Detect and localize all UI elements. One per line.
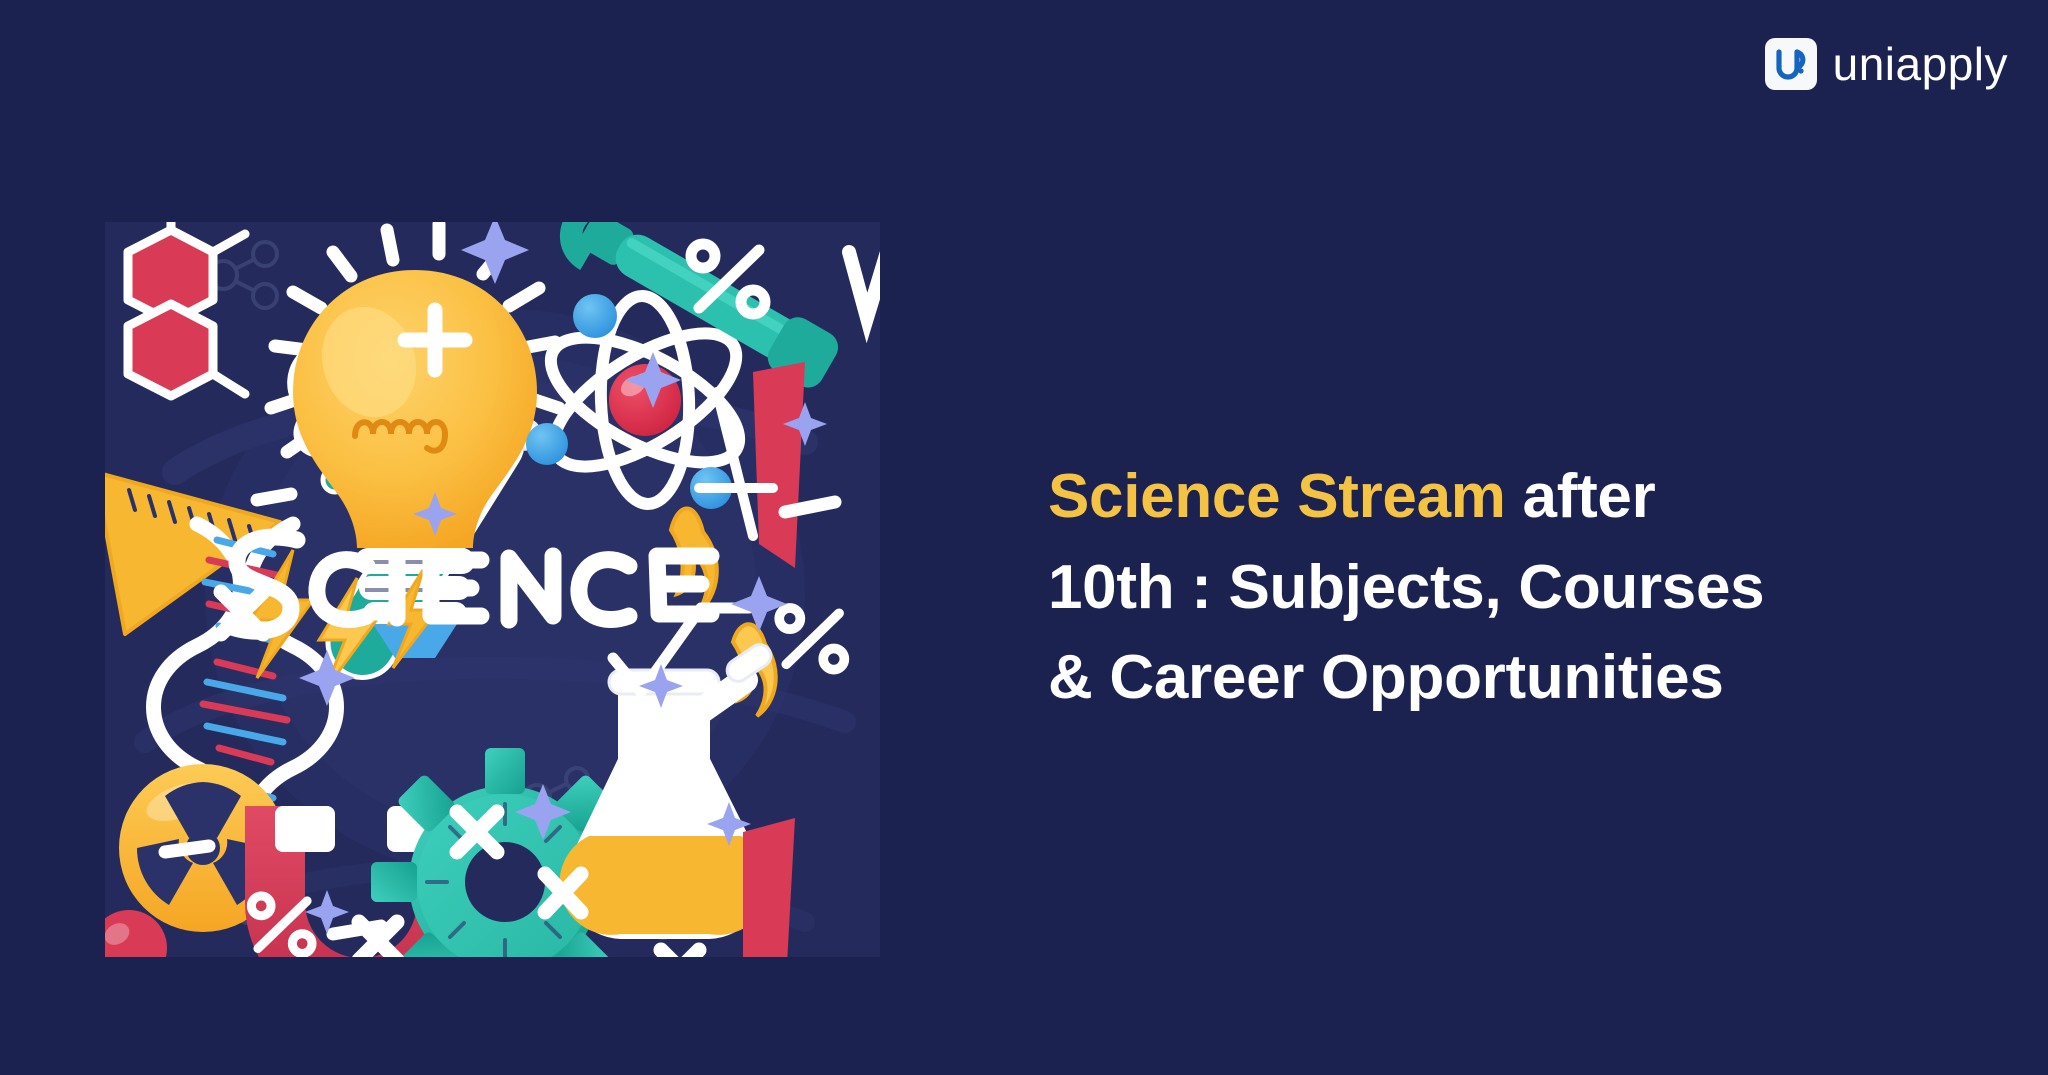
headline-line-2: 10th : Subjects, Courses <box>1048 543 1948 634</box>
headline-line-1-rest: after <box>1506 462 1656 531</box>
brand-logo[interactable]: uniapply <box>1765 38 2008 90</box>
headline-accent: Science Stream <box>1048 462 1506 531</box>
headline-line-3: & Career Opportunities <box>1048 633 1948 724</box>
brand-name: uniapply <box>1833 41 2008 87</box>
uniapply-logo-mark <box>1765 38 1817 90</box>
headline-line-1: Science Stream after <box>1048 452 1948 543</box>
banner-root: uniapply <box>0 0 2048 1075</box>
headline: Science Stream after 10th : Subjects, Co… <box>1048 452 1948 724</box>
science-illustration <box>105 222 880 957</box>
